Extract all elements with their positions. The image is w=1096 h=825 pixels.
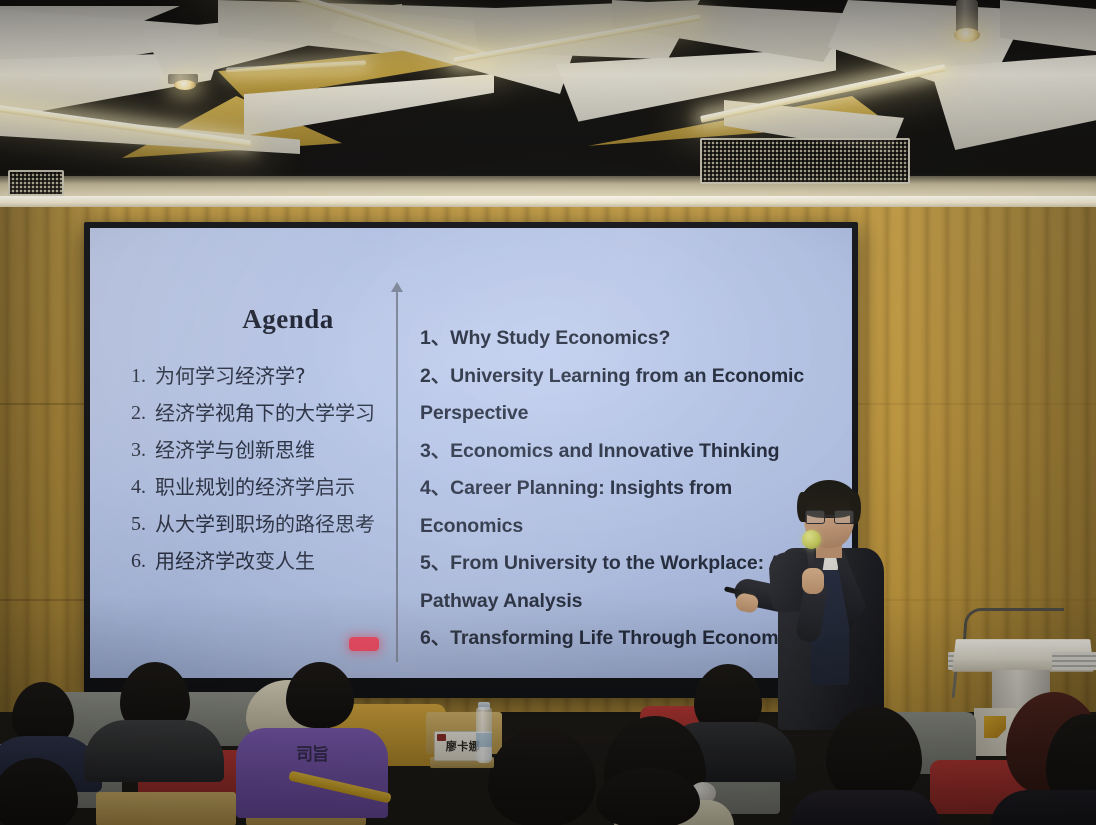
audience-hoodie-graphic: 司旨	[296, 740, 328, 765]
list-item: 2. 经济学视角下的大学学习	[108, 395, 408, 432]
audience-head	[488, 728, 596, 825]
vertical-divider-line	[396, 290, 398, 662]
list-item-number: 6.	[126, 543, 146, 580]
list-item-label: 从大学到职场的路径思考	[155, 506, 375, 543]
ceiling-spotlight-2	[954, 28, 980, 42]
audience-shoulders	[84, 720, 224, 782]
list-item-label: 经济学视角下的大学学习	[155, 395, 375, 432]
gooseneck-microphone	[963, 608, 1064, 641]
glasses-lens-left	[805, 510, 825, 524]
audience-shoulders	[790, 790, 940, 825]
list-item-label: 职业规划的经济学启示	[155, 469, 355, 506]
list-item: 3. 经济学与创新思维	[108, 432, 408, 469]
list-item-label: 用经济学改变人生	[155, 543, 315, 580]
chinese-agenda-list: 1. 为何学习经济学? 2. 经济学视角下的大学学习 3. 经济学与创新思维 4…	[108, 358, 408, 580]
list-item: 6. 用经济学改变人生	[108, 543, 408, 580]
audience-area: 司旨	[0, 640, 1096, 825]
list-item-number: 5.	[126, 506, 146, 543]
list-item-number: 1.	[126, 358, 146, 395]
list-item: 5. 从大学到职场的路径思考	[108, 506, 408, 543]
list-item: 2、University Learning from an Economic P…	[420, 358, 840, 433]
microphone-windscreen	[802, 530, 821, 549]
list-item: 1. 为何学习经济学?	[108, 358, 408, 395]
list-item-label: 为何学习经济学?	[155, 358, 306, 395]
slide-title: Agenda	[168, 304, 408, 335]
ceiling-assembly	[0, 0, 1096, 196]
water-bottle-label	[476, 733, 492, 747]
audience-head	[286, 662, 354, 728]
list-item-number: 2.	[126, 395, 146, 432]
list-item-number: 3.	[126, 432, 146, 469]
list-item-label: 经济学与创新思维	[155, 432, 315, 469]
presenter-right-hand	[802, 568, 824, 594]
desk	[96, 792, 236, 825]
soffit-led-strip	[0, 196, 1096, 207]
glasses-lens-right	[834, 510, 854, 524]
ceiling-spotlight-1	[174, 80, 196, 90]
placard-emblem	[437, 734, 446, 741]
ceiling-air-vent-left	[8, 170, 64, 196]
presenter-glasses	[805, 510, 853, 522]
list-item: 3、Economics and Innovative Thinking	[420, 433, 840, 471]
list-item: 1、Why Study Economics?	[420, 320, 840, 358]
glasses-bridge	[824, 515, 834, 517]
ceiling-air-vent-center	[700, 138, 910, 184]
ceiling-panel-white-13	[930, 54, 1096, 150]
lecture-hall-photo: Agenda 1. 为何学习经济学? 2. 经济学视角下的大学学习 3. 经济学…	[0, 0, 1096, 825]
presentation-slide: Agenda 1. 为何学习经济学? 2. 经济学视角下的大学学习 3. 经济学…	[90, 228, 852, 678]
list-item: 4. 职业规划的经济学启示	[108, 469, 408, 506]
list-item-number: 4.	[126, 469, 146, 506]
